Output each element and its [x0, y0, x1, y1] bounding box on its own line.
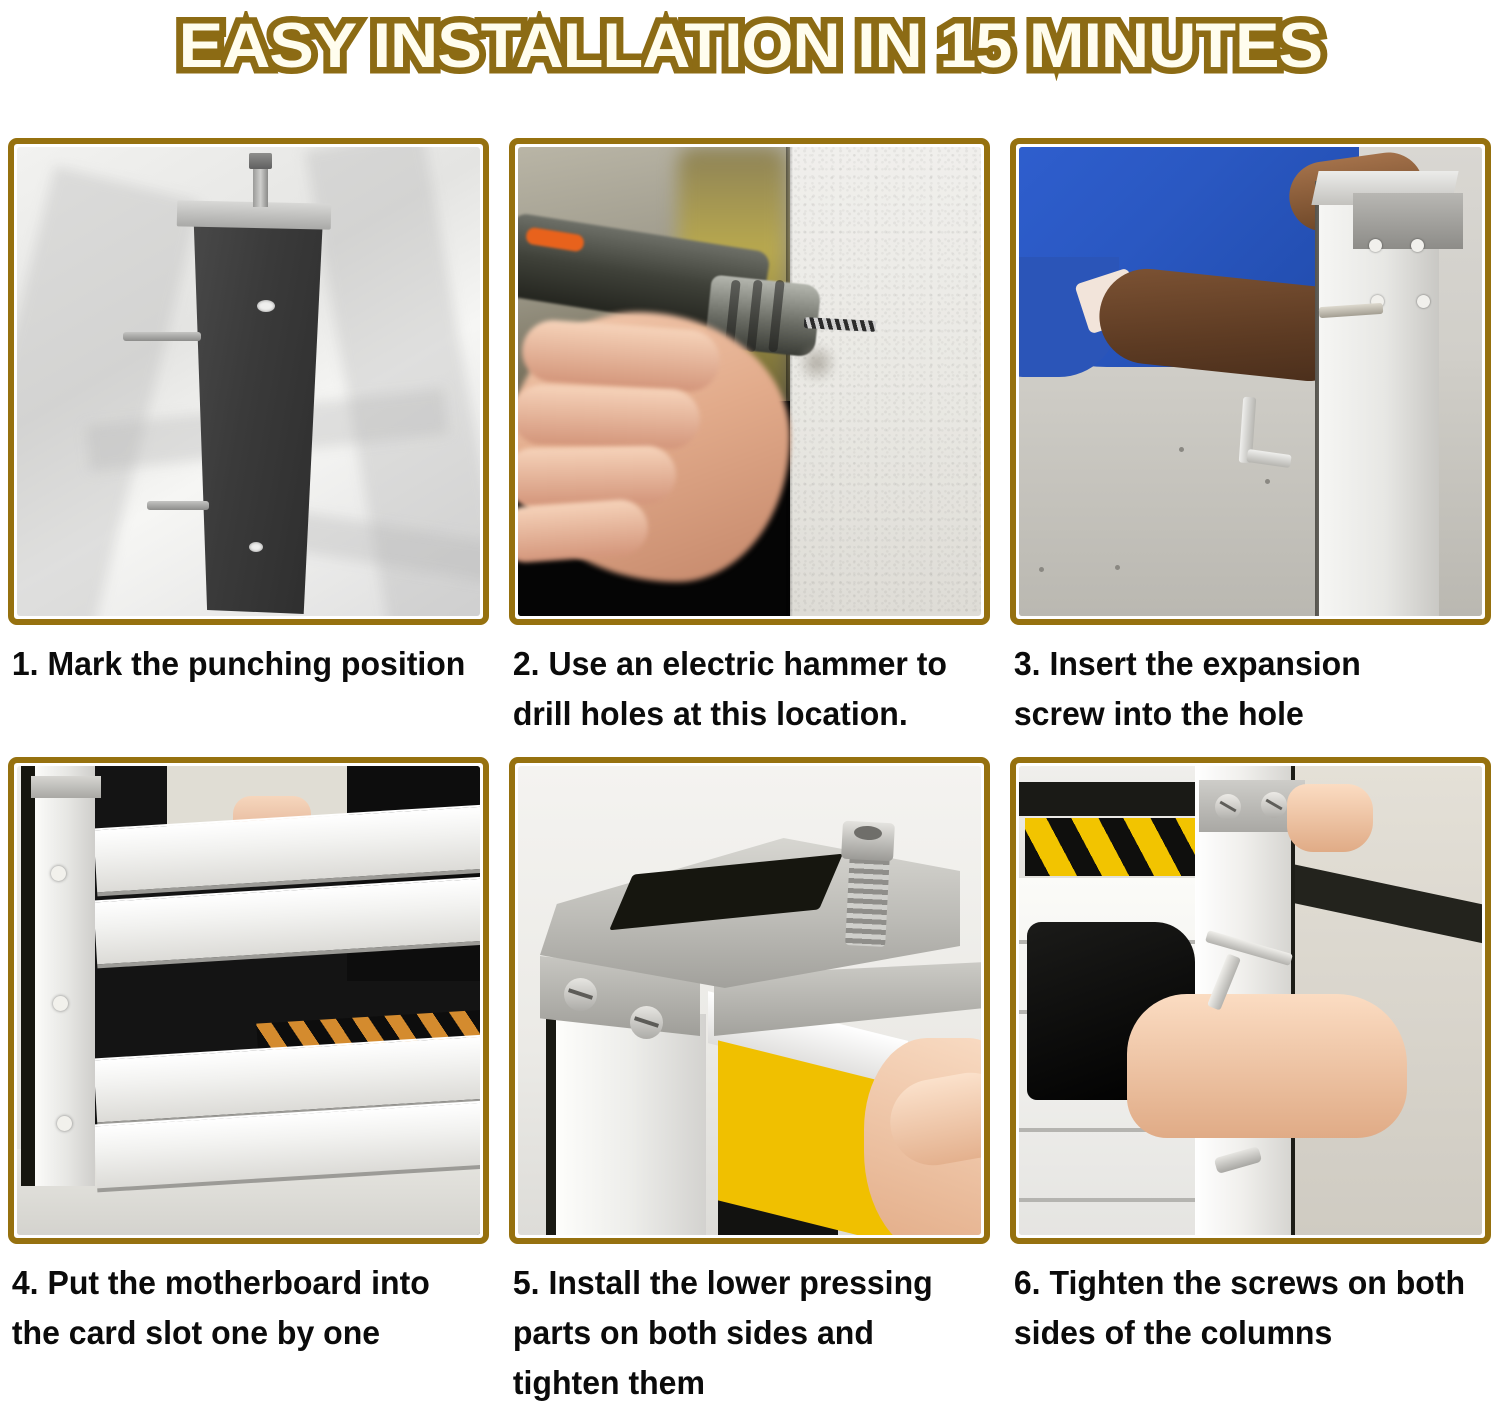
step-2-caption: 2. Use an electric hammer to drill holes…: [509, 639, 976, 739]
column-screw: [1261, 792, 1287, 818]
step-4-photo-frame: [8, 757, 489, 1244]
marked-hole: [249, 542, 263, 552]
step-1-photo-frame: [8, 138, 489, 625]
step-4-photo-insert-motherboard: [17, 766, 480, 1235]
dark-band: [1019, 782, 1204, 816]
step-card-1: 1. Mark the punching position: [8, 138, 489, 739]
step-5-photo-install-pressing-parts: [518, 766, 981, 1235]
alignment-pin: [147, 501, 209, 510]
step-1-photo-mark-punching-position: [17, 147, 480, 616]
hazard-stripe-panel: [1025, 818, 1197, 876]
floor-speck: [1115, 565, 1120, 570]
board-slot-line: [1019, 1198, 1204, 1202]
page-title: EASY INSTALLATION IN 15 MINUTES: [178, 15, 1321, 78]
steps-row-top: 1. Mark the punching position: [8, 138, 1492, 739]
step-3-photo-insert-expansion-screw: [1019, 147, 1482, 616]
step-card-3: 3. Insert the expansion screw into the h…: [1010, 138, 1491, 739]
step-card-4: 4. Put the motherboard into the card slo…: [8, 757, 489, 1408]
marked-hole: [257, 300, 275, 312]
step-3-caption: 3. Insert the expansion screw into the h…: [1010, 639, 1477, 739]
column-screw: [1215, 794, 1241, 820]
column-cap: [31, 776, 101, 798]
step-5-photo-frame: [509, 757, 990, 1244]
step-2-photo-frame: [509, 138, 990, 625]
floor-speck: [1265, 479, 1270, 484]
step-5-caption: 5. Install the lower pressing parts on b…: [509, 1258, 976, 1408]
mounting-post: [185, 209, 323, 614]
header-banner: EASY INSTALLATION IN 15 MINUTES: [0, 0, 1500, 92]
expansion-screw: [1369, 239, 1382, 252]
row-divider: [8, 739, 1492, 757]
step-6-photo-tighten-screws: [1019, 766, 1482, 1235]
step-card-2: 2. Use an electric hammer to drill holes…: [509, 138, 990, 739]
step-1-caption: 1. Mark the punching position: [8, 639, 475, 689]
step-2-photo-drill-holes: [518, 147, 981, 616]
column-screw: [57, 1116, 72, 1131]
step-card-6: 6. Tighten the screws on both sides of t…: [1010, 757, 1491, 1408]
helper-hand: [1287, 784, 1373, 852]
column-screw: [51, 866, 66, 881]
installation-steps-grid: 1. Mark the punching position: [8, 138, 1492, 1408]
step-card-5: 5. Install the lower pressing parts on b…: [509, 757, 990, 1408]
bracket-screw: [630, 1006, 663, 1039]
steps-row-bottom: 4. Put the motherboard into the card slo…: [8, 757, 1492, 1408]
hand: [1127, 994, 1407, 1138]
column-screw: [53, 996, 68, 1011]
alignment-pin: [123, 332, 201, 341]
bolt-head: [249, 153, 272, 169]
step-3-photo-frame: [1010, 138, 1491, 625]
step-6-photo-frame: [1010, 757, 1491, 1244]
finger: [518, 446, 676, 507]
floor-speck: [1039, 567, 1044, 572]
expansion-screw: [1411, 239, 1424, 252]
step-4-caption: 4. Put the motherboard into the card slo…: [8, 1258, 475, 1358]
cloth-fold: [17, 166, 200, 616]
finger: [518, 384, 701, 451]
step-6-caption: 6. Tighten the screws on both sides of t…: [1010, 1258, 1477, 1358]
wall-edge-shadow: [786, 147, 793, 616]
floor-speck: [1179, 447, 1184, 452]
white-column: [556, 1014, 706, 1235]
drill-dust: [796, 343, 838, 383]
bracket-screw: [564, 978, 597, 1011]
expansion-screw: [1417, 295, 1430, 308]
